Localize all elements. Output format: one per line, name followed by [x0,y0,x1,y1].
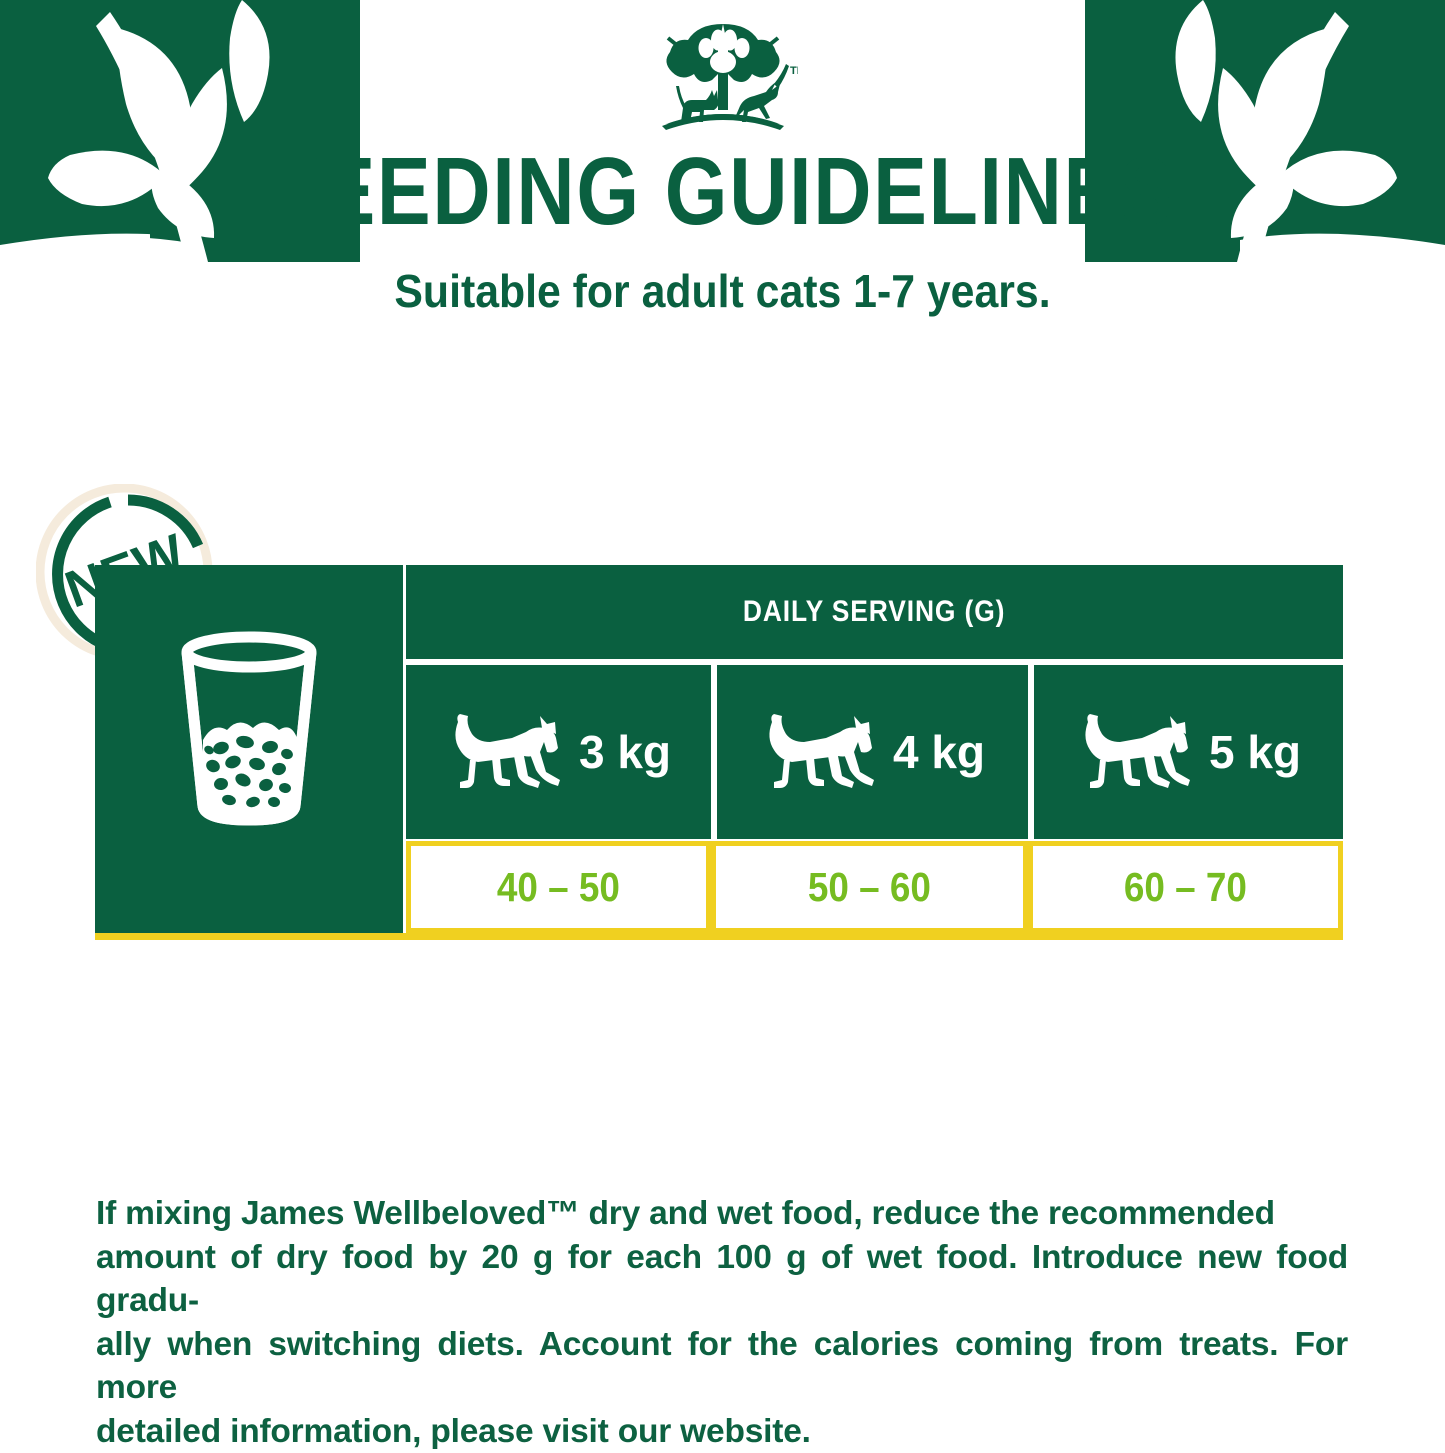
weight-label-0: 3 kg [579,725,671,779]
page-title: FEEDING GUIDELINES [116,144,1330,240]
page-header: TM FEEDING GUIDELINES Suitable for adult… [0,0,1445,314]
weight-label-2: 5 kg [1209,725,1301,779]
measuring-cup-cell [95,565,403,933]
daily-serving-header-cell: DAILY SERVING (G) [406,565,1343,659]
table-bottom-rule [95,933,1343,940]
weight-label-1: 4 kg [893,725,985,779]
page-subtitle: Suitable for adult cats 1-7 years. [51,268,1395,314]
serving-value-0: 40 – 50 [497,864,620,911]
feeding-table: DAILY SERVING (G) 3 kg [95,565,1343,940]
serving-cell-5kg: 60 – 70 [1028,841,1343,933]
serving-value-row: 40 – 50 50 – 60 60 – 70 [406,841,1343,933]
walking-cat-icon [1076,708,1201,796]
footnote-line-4: detailed information, please visit our w… [96,1410,1348,1453]
serving-value-1: 50 – 60 [808,864,931,911]
weight-cell-4kg: 4 kg [717,665,1028,839]
serving-cell-3kg: 40 – 50 [406,841,711,933]
footnote-text: If mixing James Wellbeloved™ dry and wet… [96,1192,1348,1453]
daily-serving-header-label: DAILY SERVING (G) [743,595,1005,629]
weight-cell-3kg: 3 kg [406,665,711,839]
tree-with-paw-cat-dog-logo: TM [648,18,798,136]
footnote-line-1: If mixing James Wellbeloved™ dry and wet… [96,1192,1348,1236]
serving-cell-4kg: 50 – 60 [711,841,1028,933]
measuring-cup-with-kibble-icon [169,630,329,830]
walking-cat-icon [760,708,885,796]
walking-cat-icon [446,708,571,796]
serving-value-2: 60 – 70 [1124,864,1247,911]
weight-row: 3 kg 4 kg [406,665,1343,839]
footnote-line-3: ally when switching diets. Account for t… [96,1323,1348,1410]
weight-cell-5kg: 5 kg [1034,665,1343,839]
footnote-line-2: amount of dry food by 20 g for each 100 … [96,1236,1348,1323]
trademark-mark: TM [790,65,798,77]
